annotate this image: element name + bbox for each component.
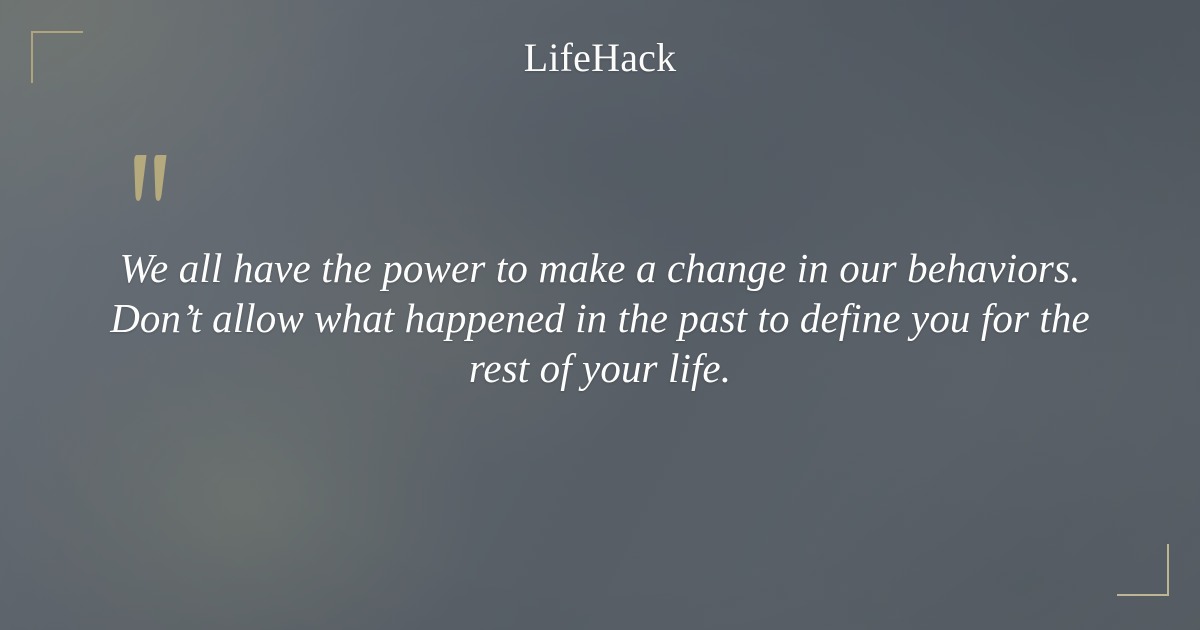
corner-bracket-bottom-right-icon [1117, 544, 1169, 596]
quote-line-1: We all have the power to make a change i… [100, 243, 1100, 293]
quote-text: We all have the power to make a change i… [100, 243, 1100, 393]
double-quote-mark-icon [126, 150, 196, 230]
quote-line-3: rest of your life. [100, 343, 1100, 393]
quote-card: LifeHack We all have the power to make a… [0, 0, 1200, 630]
quote-line-2: Don’t allow what happened in the past to… [100, 293, 1100, 343]
brand-logo: LifeHack [0, 38, 1200, 78]
quote-block: We all have the power to make a change i… [100, 243, 1100, 393]
